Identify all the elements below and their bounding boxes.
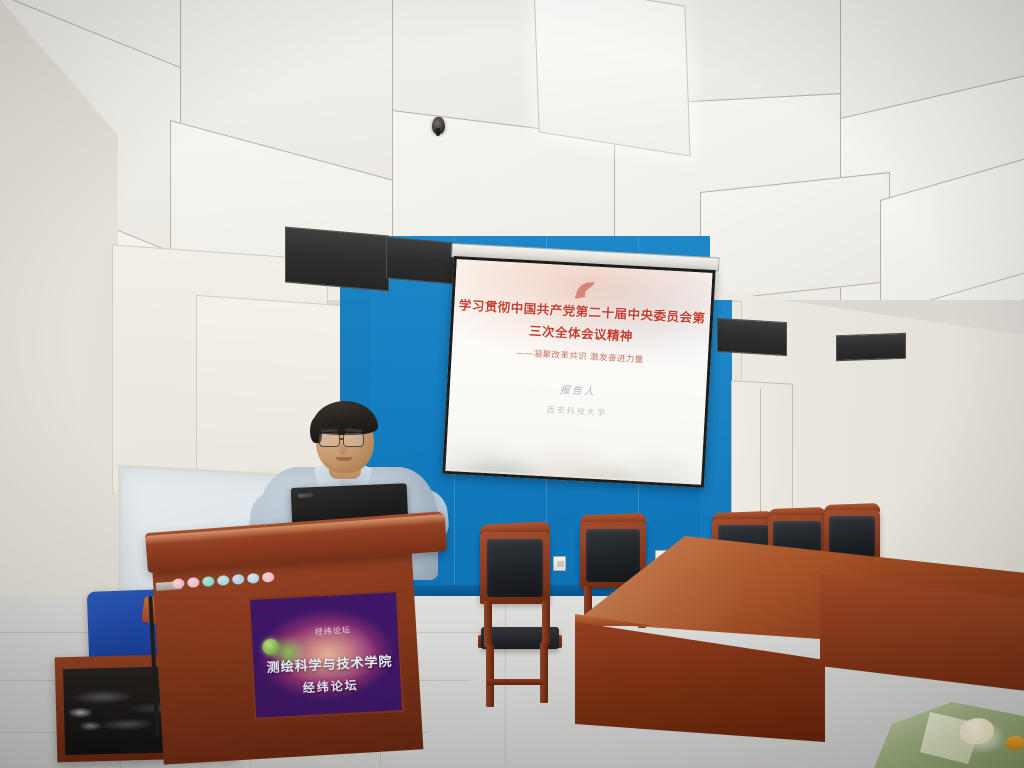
projector-button[interactable] <box>187 577 200 588</box>
light-button[interactable] <box>247 573 260 584</box>
glasses-lens-left-icon <box>319 433 340 447</box>
orange-accent-object <box>1006 736 1024 750</box>
conference-room-photo: 学习贯彻中国共产党第二十届中央委员会第 三次全体会议精神 ——凝聚改革共识 激发… <box>0 0 1024 768</box>
podium-banner-line2: 经纬论坛 <box>260 674 401 698</box>
slide-title-line2: 三次全体会议精神 <box>529 320 634 345</box>
university-emblem-icon <box>262 638 279 655</box>
source-button[interactable] <box>262 572 275 583</box>
ceiling-light-panel <box>533 0 690 157</box>
power-button[interactable] <box>172 578 185 589</box>
cream-object <box>960 718 994 744</box>
glasses-bridge-icon <box>339 438 344 440</box>
slide-subtitle: ——凝聚改革共识 激发奋进力量 <box>516 346 644 365</box>
podium-banner-small-text: 经纬论坛 <box>278 623 388 640</box>
party-hammer-sickle-emblem-icon <box>573 278 600 303</box>
fascia-panel-far-right <box>836 333 906 361</box>
fascia-panel-left <box>285 226 389 291</box>
loose-wires <box>62 700 108 742</box>
screen-down-button[interactable] <box>217 575 230 586</box>
dome-security-camera-icon <box>432 117 445 134</box>
podium-banner: 经纬论坛 测绘科学与技术学院 经纬论坛 <box>248 590 404 720</box>
slide-signature: 报告人 <box>560 381 597 398</box>
projection-screen: 学习贯彻中国共产党第二十届中央委员会第 三次全体会议精神 ——凝聚改革共识 激发… <box>442 256 715 488</box>
podium-banner-line1: 测绘科学与技术学院 <box>259 650 400 676</box>
screen-up-button[interactable] <box>202 576 215 587</box>
laptop-logo-icon <box>298 493 313 498</box>
chair-1[interactable] <box>478 523 564 708</box>
speaker-nose <box>339 444 347 455</box>
speaker-mouth <box>336 457 352 461</box>
volume-button[interactable] <box>232 574 245 585</box>
fascia-panel-right <box>717 318 787 356</box>
presentation-slide: 学习贯彻中国共产党第二十届中央委员会第 三次全体会议精神 ——凝聚改革共识 激发… <box>445 259 712 485</box>
